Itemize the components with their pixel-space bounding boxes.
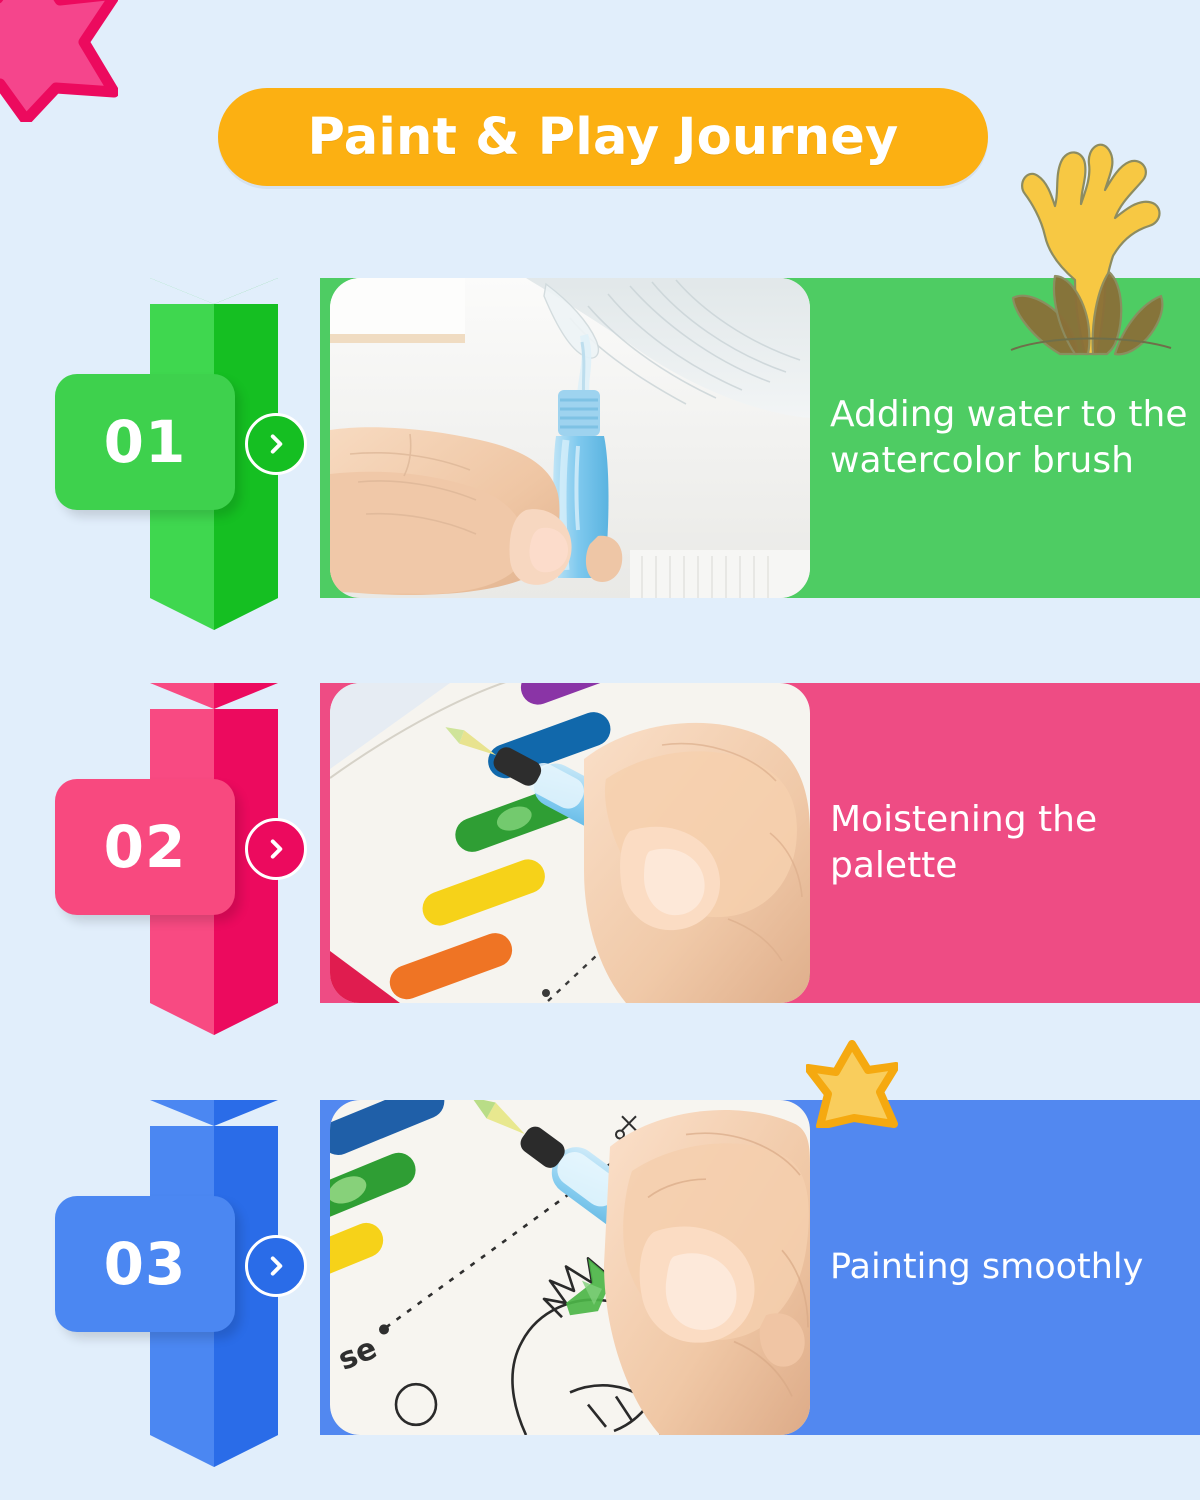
ribbon-bottom-point-3 [150,1427,278,1469]
step-number-3: 03 [104,1230,187,1298]
ribbon-top-notch-2 [150,683,278,717]
step-caption-text-3: Painting smoothly [830,1245,1143,1290]
ribbon-top-notch-1 [150,278,278,312]
step-number-plate-3: 03 [55,1196,235,1332]
step-number-plate-1: 01 [55,374,235,510]
step-caption-2: Moistening the palette [830,683,1190,1003]
step-badge-1: 01 [0,278,330,598]
page-title: Paint & Play Journey [308,108,899,167]
step-photo-2 [330,683,810,1003]
step-badge-3: 03 [0,1100,330,1435]
ribbon-bottom-point-1 [150,590,278,632]
step-caption-text-1: Adding water to the watercolor brush [830,392,1190,484]
step-row-2: 02 [0,683,1200,1003]
step-row-3: 03 [0,1100,1200,1435]
ribbon-bottom-point-2 [150,995,278,1037]
page-title-pill: Paint & Play Journey [218,88,988,186]
step-row-1: 01 [0,278,1200,598]
step-number-1: 01 [104,408,187,476]
step-caption-1: Adding water to the watercolor brush [830,278,1190,598]
step-number-plate-2: 02 [55,779,235,915]
infographic-stage: Paint & Play Journey [0,0,1200,1500]
step-number-2: 02 [104,813,187,881]
chevron-right-icon[interactable] [245,818,307,880]
step-badge-2: 02 [0,683,330,1003]
step-photo-1 [330,278,810,598]
chevron-right-icon[interactable] [245,413,307,475]
step-photo-3: se [330,1100,810,1435]
pink-star-icon [0,0,118,122]
step-caption-3: Painting smoothly [830,1100,1190,1435]
ribbon-top-notch-3 [150,1100,278,1134]
step-caption-text-2: Moistening the palette [830,797,1190,889]
chevron-right-icon[interactable] [245,1235,307,1297]
